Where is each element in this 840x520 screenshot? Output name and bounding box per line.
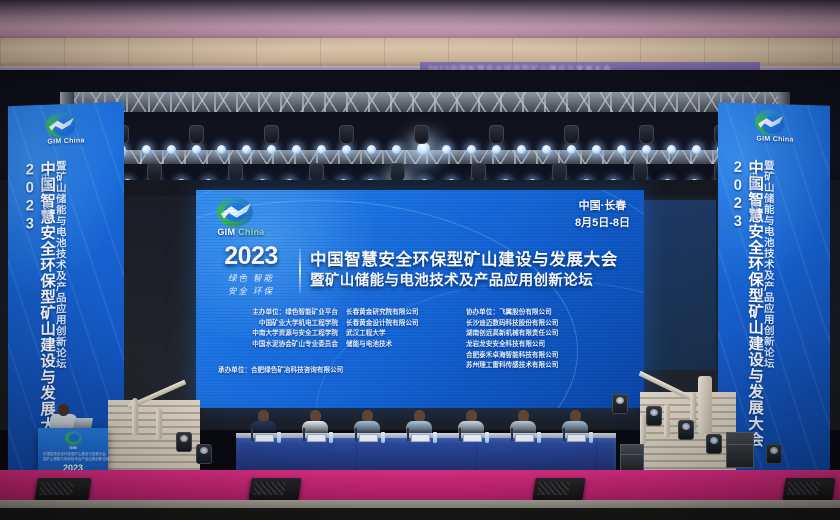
left-banner-year: 2023	[22, 161, 37, 234]
left-baluster-1	[132, 398, 138, 436]
stage-lamp-upper-21	[592, 145, 601, 154]
left-banner-place: 中国·长春	[39, 173, 52, 220]
stage-moving-light-2	[646, 406, 662, 426]
equipment-road-case-center	[620, 444, 644, 472]
stage-lamp-upper-8	[267, 145, 276, 154]
equipment-road-case-right	[726, 432, 754, 468]
stage-moving-light-3	[678, 420, 694, 440]
water-bottle	[589, 432, 593, 443]
moving-head-upper-14	[414, 125, 429, 144]
water-bottle	[485, 432, 489, 443]
stage-lamp-upper-23	[642, 145, 651, 154]
stage-lamp-upper-17	[492, 145, 501, 154]
water-bottle	[381, 432, 385, 443]
table-microphone	[251, 428, 253, 441]
stage-lamp-upper-12	[367, 145, 376, 154]
panelist-nameplate	[255, 434, 274, 442]
right-banner-year: 2023	[730, 159, 745, 231]
stage-lamp-upper-16	[467, 145, 476, 154]
conference-stage-photo: 2023中国智慧安全环保型矿山建设与发展大会 GIM China 暨矿山储能与电…	[0, 0, 840, 520]
stage-lamp-upper-11	[342, 145, 351, 154]
stage-lamp-upper-25	[692, 145, 701, 154]
stage-lamp-upper-4	[167, 145, 176, 154]
stage-lamp-upper-15	[442, 145, 451, 154]
stage-lamp-upper-6	[217, 145, 226, 154]
left-baluster-2	[156, 408, 162, 440]
left-banner-logo-icon: GIM China	[39, 111, 93, 153]
moving-head-upper-20	[564, 125, 579, 144]
stage-lamp-upper-10	[317, 145, 326, 154]
right-baluster-2	[664, 404, 670, 438]
moving-head-upper-8	[264, 125, 279, 144]
water-bottle	[329, 432, 333, 443]
stage-lamp-upper-3	[142, 145, 151, 154]
stage-moving-light-4	[706, 434, 722, 454]
water-bottle	[537, 432, 541, 443]
moving-head-upper-23	[639, 125, 654, 144]
panelist-nameplate	[359, 434, 378, 442]
panelist-nameplate	[515, 434, 534, 442]
podium-logo-ring	[65, 431, 82, 445]
moving-head-upper-17	[489, 125, 504, 144]
panelist-nameplate	[411, 434, 430, 442]
stage-lamp-upper-20	[567, 145, 576, 154]
stage-carpet	[0, 470, 840, 502]
podium-logo-text: GIM	[60, 445, 86, 450]
podium-line-2: 暨矿山储能与电池技术及产品应用创新论坛	[43, 456, 103, 461]
stage-lamp-upper-5	[192, 145, 201, 154]
foreground-shadow	[0, 508, 840, 520]
podium-logo-icon: GIM	[60, 431, 86, 449]
panel-table-area	[236, 412, 616, 472]
table-microphone	[563, 428, 565, 441]
table-microphone	[407, 428, 409, 441]
right-banner-subtitle: 暨矿山储能与电池技术及产品应用创新论坛	[763, 160, 774, 460]
moving-head-upper-5	[189, 125, 204, 144]
stage-monitor-1	[34, 478, 91, 500]
stage-moving-light-6	[196, 444, 212, 464]
moving-head-upper-11	[339, 125, 354, 144]
right-newel-post	[698, 376, 712, 434]
stage-lamp-upper-22	[617, 145, 626, 154]
stage-lamp-upper-7	[242, 145, 251, 154]
stage-monitor-2	[248, 478, 301, 500]
stage-moving-light-7	[766, 444, 782, 464]
hall-ceiling	[0, 0, 840, 40]
left-stage-side-panel	[124, 196, 198, 406]
stage-lamp-upper-24	[667, 145, 676, 154]
table-microphone	[511, 428, 513, 441]
stage-lamp-upper-18	[517, 145, 526, 154]
stage-lamp-upper-9	[292, 145, 301, 154]
table-microphone	[303, 428, 305, 441]
stage-lamp-upper-19	[542, 145, 551, 154]
panelist-nameplate	[307, 434, 326, 442]
stage-monitor-4	[782, 478, 835, 500]
speaker-head	[58, 404, 69, 416]
panelist-nameplate	[567, 434, 586, 442]
right-banner-logo-text: GIM China	[748, 135, 802, 144]
led-scanline-overlay	[196, 190, 644, 408]
table-microphone	[355, 428, 357, 441]
water-bottle	[277, 432, 281, 443]
water-bottle	[433, 432, 437, 443]
left-banner-logo-text: GIM China	[39, 137, 93, 146]
truss-beam-upper	[60, 92, 790, 112]
stage-moving-light-1	[612, 394, 628, 414]
right-banner-logo-icon: GIM China	[748, 109, 802, 151]
panelist-nameplate	[463, 434, 482, 442]
stage-lamp-upper-13	[392, 145, 401, 154]
table-microphone	[459, 428, 461, 441]
stage-monitor-3	[532, 478, 585, 500]
stage-moving-light-5	[176, 432, 192, 452]
main-led-screen: GIM China 中国·长春 8月5日-8日 2023 绿色 智能 安全 环保…	[196, 190, 644, 408]
right-banner-place: 中国·长春	[747, 171, 760, 218]
